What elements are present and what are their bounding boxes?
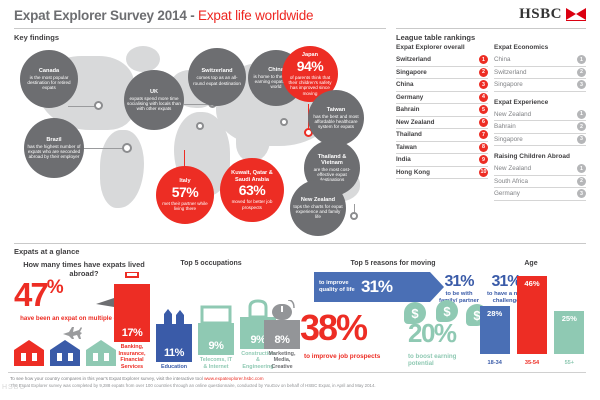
bubble-text: moved for better job prospects bbox=[223, 199, 281, 209]
country-name: Hong Kong bbox=[396, 169, 430, 176]
occupation-bar-education[interactable]: 11% Education bbox=[156, 308, 192, 370]
rank-badge: 8 bbox=[479, 143, 488, 152]
table-row[interactable]: South Africa2 bbox=[494, 176, 586, 189]
bubble-value: 63% bbox=[239, 183, 266, 199]
reason-job-prospects-label: to improve job prospects bbox=[304, 353, 380, 360]
league-heading-overall: Expat Explorer overall bbox=[396, 44, 488, 51]
country-name: Switzerland bbox=[494, 69, 527, 76]
age-bar-18-34[interactable]: 28% bbox=[480, 306, 510, 354]
bubble-text: comes top as an all-round expat destinat… bbox=[191, 75, 243, 85]
rank-badge: 2 bbox=[479, 68, 488, 77]
bubble-title: Thailand & Vietnam bbox=[307, 154, 357, 167]
occupation-bar-telecoms[interactable]: 9% Telecoms, IT & Internet bbox=[198, 305, 234, 370]
league-heading-economics: Expat Economics bbox=[494, 44, 586, 51]
league-column-overall: Expat Explorer overall Switzerland1 Sing… bbox=[396, 44, 488, 179]
country-name: New Zealand bbox=[494, 111, 531, 118]
table-row[interactable]: Switzerland1 bbox=[396, 54, 488, 67]
bar-value: 28% bbox=[480, 309, 510, 318]
map-bubble-italy[interactable]: Italy 57% met their partner while living… bbox=[156, 166, 214, 224]
country-name: Thailand bbox=[396, 131, 422, 138]
age-bar-35-54[interactable]: 46% bbox=[517, 276, 547, 354]
percent-sign: % bbox=[47, 277, 62, 298]
table-row[interactable]: Thailand7 bbox=[396, 129, 488, 142]
page-subtitle: Expat life worldwide bbox=[198, 8, 313, 23]
bubble-text: has the best and most affordable healthc… bbox=[311, 114, 361, 129]
map-bubble-switzerland[interactable]: Switzerland comes top as an all-round ex… bbox=[188, 48, 246, 106]
map-pin-new-zealand[interactable] bbox=[350, 212, 358, 220]
age-bar-55plus[interactable]: 25% bbox=[554, 311, 584, 354]
value-number: 47 bbox=[14, 276, 47, 313]
rank-badge: 5 bbox=[479, 105, 488, 114]
rank-badge: 3 bbox=[577, 189, 586, 198]
footer: To see how your country compares in this… bbox=[10, 376, 590, 388]
world-map-panel: Canada is the most popular destination f… bbox=[8, 44, 388, 240]
spacer bbox=[494, 146, 586, 153]
map-bubble-taiwan[interactable]: Taiwan has the best and most affordable … bbox=[308, 90, 364, 146]
rank-badge: 3 bbox=[577, 135, 586, 144]
bar-label: Education bbox=[156, 364, 192, 370]
hexagon-mark-icon bbox=[566, 8, 586, 21]
table-row[interactable]: China1 bbox=[494, 54, 586, 67]
league-heading-children: Raising Children Abroad bbox=[494, 153, 586, 160]
table-row[interactable]: China3 bbox=[396, 79, 488, 92]
rank-badge: 6 bbox=[479, 118, 488, 127]
glance-heading: Expats at a glance bbox=[14, 247, 79, 256]
country-name: New Zealand bbox=[494, 165, 531, 172]
reason-value: 31% bbox=[361, 277, 392, 297]
table-row[interactable]: Germany3 bbox=[494, 188, 586, 201]
country-name: Singapore bbox=[494, 136, 523, 143]
map-landmass-south-america bbox=[100, 130, 144, 208]
occupations-panel: Top 5 occupations 17% Banking, Insurance… bbox=[108, 258, 303, 370]
league-heading-experience: Expat Experience bbox=[494, 99, 586, 106]
table-row[interactable]: Singapore2 bbox=[396, 67, 488, 80]
country-name: China bbox=[494, 56, 510, 63]
bubble-text: is the most popular destination for reti… bbox=[23, 75, 75, 90]
table-row[interactable]: New Zealand1 bbox=[494, 109, 586, 122]
page-title: Expat Explorer Survey 2014 - bbox=[14, 8, 198, 23]
rank-badge: 2 bbox=[577, 177, 586, 186]
bubble-text: has the highest number of expats who are… bbox=[27, 144, 81, 159]
lived-abroad-value: 47% bbox=[14, 278, 62, 311]
reason-job-prospects-value: 38% bbox=[300, 310, 366, 346]
table-row[interactable]: Switzerland2 bbox=[494, 67, 586, 80]
bubble-text: tops the charts for expat experience and… bbox=[293, 204, 343, 219]
table-row[interactable]: New Zealand6 bbox=[396, 117, 488, 130]
reason-quality-of-life[interactable]: to improve quality of life 31% bbox=[314, 272, 430, 302]
house-icon-blue bbox=[50, 340, 80, 366]
bar-value: 9% bbox=[209, 340, 224, 355]
league-column-subcategories: Expat Economics China1 Switzerland2 Sing… bbox=[494, 44, 586, 201]
country-name: New Zealand bbox=[396, 119, 435, 126]
bar-value: 8% bbox=[275, 334, 290, 349]
rank-badge: 10 bbox=[479, 168, 488, 177]
rank-badge: 7 bbox=[479, 130, 488, 139]
bubble-title: Canada bbox=[39, 68, 59, 74]
footer-text: To see how your country compares in this… bbox=[10, 376, 204, 381]
rank-badge: 3 bbox=[479, 80, 488, 89]
country-name: Singapore bbox=[396, 69, 427, 76]
bar-fill: 17% bbox=[114, 284, 150, 342]
map-bubble-gulf[interactable]: Kuwait, Qatar & Saudi Arabia 63% moved f… bbox=[220, 158, 284, 222]
bubble-value: 57% bbox=[172, 185, 199, 201]
house-icon-red bbox=[14, 340, 44, 366]
bar-value: 25% bbox=[554, 314, 584, 323]
header-divider-right bbox=[396, 28, 586, 29]
airplane-small-icon bbox=[62, 326, 82, 340]
country-name: Bahrain bbox=[396, 106, 419, 113]
bar-fill: 8% bbox=[264, 320, 300, 349]
axis-tick-label: 35-54 bbox=[517, 360, 547, 366]
country-name: Taiwan bbox=[396, 144, 417, 151]
table-row[interactable]: India9 bbox=[396, 154, 488, 167]
bubble-title: Brazil bbox=[46, 137, 61, 143]
watermark: HSBC bbox=[2, 384, 25, 391]
bubble-title: Taiwan bbox=[327, 107, 346, 113]
table-row[interactable]: Singapore3 bbox=[494, 134, 586, 147]
bubble-text: expats spend more time socialising with … bbox=[127, 96, 181, 111]
axis-tick-label: 55+ bbox=[554, 360, 584, 366]
reasons-panel: Top 5 reasons for moving to improve qual… bbox=[296, 258, 481, 370]
rank-badge: 3 bbox=[577, 80, 586, 89]
bubble-title: Kuwait, Qatar & Saudi Arabia bbox=[223, 170, 281, 183]
bar-value: 17% bbox=[122, 327, 143, 342]
country-name: Germany bbox=[494, 190, 520, 197]
bubble-title: Switzerland bbox=[201, 68, 232, 74]
hsbc-wordmark: HSBC bbox=[519, 6, 562, 23]
section-divider bbox=[14, 243, 586, 244]
bar-value: 46% bbox=[517, 279, 547, 288]
footer-methodology: The Expat Explorer survey was completed … bbox=[10, 383, 590, 388]
table-row[interactable]: New Zealand1 bbox=[494, 163, 586, 176]
country-name: Bahrain bbox=[494, 123, 516, 130]
bar-label: Banking, Insurance, Financial Services bbox=[114, 344, 150, 370]
country-name: China bbox=[396, 81, 414, 88]
rank-badge: 1 bbox=[577, 55, 586, 64]
age-panel: Age 28% 46% 25% 18-34 35-54 55+ bbox=[470, 258, 592, 370]
country-name: Germany bbox=[396, 94, 423, 101]
stats-area: How many times have expats lived abroad?… bbox=[0, 258, 600, 370]
table-row[interactable]: Bahrain5 bbox=[396, 104, 488, 117]
bar-value: 11% bbox=[164, 347, 184, 362]
mouse-icon bbox=[264, 300, 300, 320]
rank-badge: 2 bbox=[577, 68, 586, 77]
footer-line-1: To see how your country compares in this… bbox=[10, 376, 590, 381]
table-row[interactable]: Bahrain2 bbox=[494, 121, 586, 134]
graduation-icon bbox=[156, 308, 192, 324]
monitor-icon bbox=[198, 305, 234, 323]
table-row[interactable]: Taiwan8 bbox=[396, 142, 488, 155]
reason-label: to improve quality of life bbox=[319, 280, 359, 294]
map-pin-china[interactable] bbox=[280, 118, 288, 126]
table-row[interactable]: Germany4 bbox=[396, 92, 488, 105]
age-bars: 28% 46% 25% bbox=[476, 276, 588, 354]
occupation-bar-banking[interactable]: 17% Banking, Insurance, Financial Servic… bbox=[114, 272, 150, 370]
hsbc-logo: HSBC bbox=[519, 6, 586, 23]
map-pin-brazil[interactable] bbox=[122, 143, 132, 153]
occupation-bar-marketing[interactable]: 8% Marketing, Media, Creative bbox=[264, 300, 300, 370]
table-row[interactable]: Hong Kong10 bbox=[396, 167, 488, 180]
bubble-value: 94% bbox=[297, 59, 324, 75]
bar-fill: 11% bbox=[156, 324, 192, 362]
map-landmass-india bbox=[236, 122, 270, 162]
bubble-text: met their partner while living there bbox=[159, 201, 211, 211]
reason-earning-potential-value: 20% bbox=[408, 320, 456, 346]
age-axis-labels: 18-34 35-54 55+ bbox=[476, 360, 588, 366]
table-row[interactable]: Singapore3 bbox=[494, 79, 586, 92]
bubble-title: New Zealand bbox=[301, 197, 335, 203]
axis-tick-label: 18-34 bbox=[480, 360, 510, 366]
rank-badge: 1 bbox=[577, 110, 586, 119]
country-name: India bbox=[396, 156, 411, 163]
briefcase-icon bbox=[114, 272, 150, 284]
bar-fill: 9% bbox=[198, 323, 234, 355]
bubble-title: UK bbox=[150, 89, 158, 95]
reasons-title: Top 5 reasons for moving bbox=[318, 260, 468, 267]
league-rankings-heading: League table rankings bbox=[396, 33, 475, 42]
age-title: Age bbox=[470, 260, 592, 267]
bar-label: Marketing, Media, Creative bbox=[264, 351, 300, 370]
map-bubble-brazil[interactable]: Brazil has the highest number of expats … bbox=[24, 118, 84, 178]
spacer bbox=[494, 92, 586, 99]
map-landmass-greenland bbox=[126, 46, 160, 72]
footer-divider bbox=[8, 372, 586, 373]
map-pin-canada[interactable] bbox=[94, 101, 103, 110]
header-divider bbox=[14, 28, 386, 29]
country-name: Singapore bbox=[494, 81, 523, 88]
map-pin-switzerland[interactable] bbox=[196, 122, 204, 130]
rank-badge: 1 bbox=[479, 55, 488, 64]
rank-badge: 4 bbox=[479, 93, 488, 102]
map-bubble-new-zealand[interactable]: New Zealand tops the charts for expat ex… bbox=[290, 180, 346, 236]
bar-label: Telecoms, IT & Internet bbox=[198, 357, 234, 370]
occupations-title: Top 5 occupations bbox=[156, 260, 266, 267]
rank-badge: 2 bbox=[577, 122, 586, 131]
interactive-tool-link[interactable]: www.expatexplorer.hsbc.com bbox=[204, 376, 264, 381]
rank-badge: 9 bbox=[479, 155, 488, 164]
map-bubble-canada[interactable]: Canada is the most popular destination f… bbox=[20, 50, 78, 108]
map-bubble-uk[interactable]: UK expats spend more time socialising wi… bbox=[124, 70, 184, 130]
key-findings-heading: Key findings bbox=[14, 33, 59, 42]
country-name: Switzerland bbox=[396, 56, 431, 63]
rank-badge: 1 bbox=[577, 164, 586, 173]
country-name: South Africa bbox=[494, 178, 528, 185]
page-header: Expat Explorer Survey 2014 - Expat life … bbox=[0, 0, 600, 30]
